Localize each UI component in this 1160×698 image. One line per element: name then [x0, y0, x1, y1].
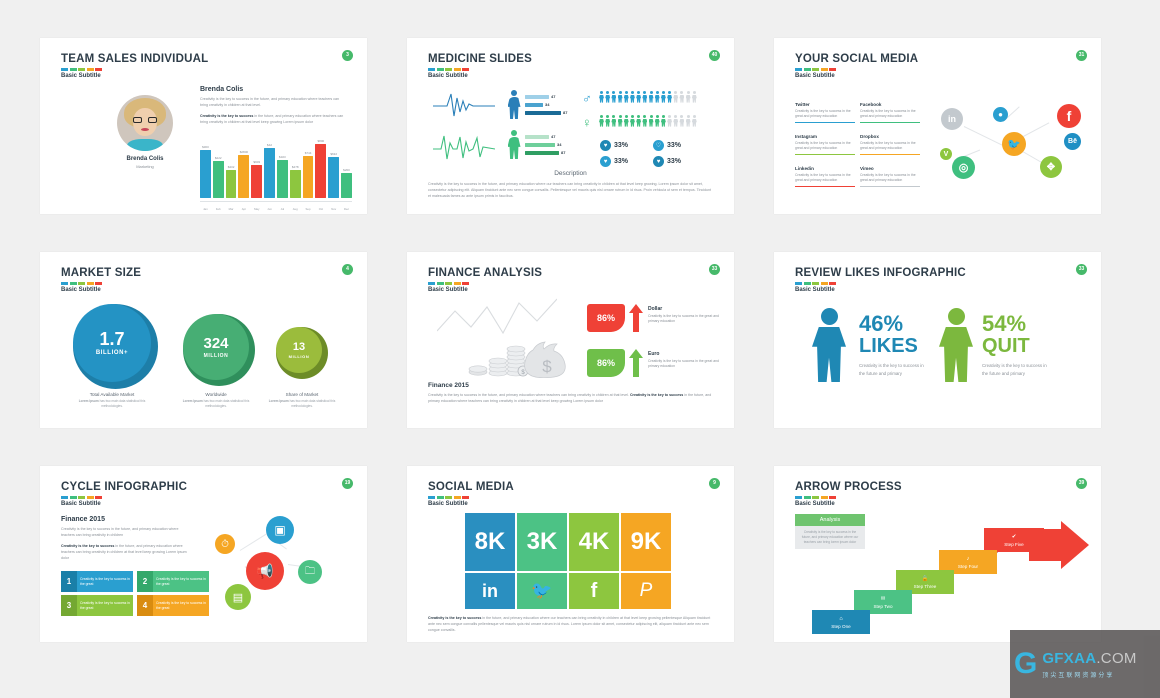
bar: [238, 155, 249, 198]
social-item-text: Creativity is the key to success in the …: [795, 109, 855, 120]
market-circle-worldwide: 324 MILLION: [183, 314, 249, 380]
slide-cycle-infographic[interactable]: CYCLE INFOGRAPHIC Basic Subtitle 19 Fina…: [40, 466, 367, 642]
pictogram-figure: [618, 91, 623, 102]
pictogram-figure: [673, 91, 678, 102]
social-item-label: Linkedin: [795, 166, 855, 171]
slide-number-badge: 39: [1076, 478, 1087, 489]
page-title: MARKET SIZE: [61, 267, 141, 279]
heart-icon: ♡: [653, 140, 664, 151]
market-circle-total: 1.7 BILLION+: [73, 304, 151, 382]
money-bag-icon: $ $: [467, 330, 567, 378]
month-label: Jun: [264, 207, 275, 211]
social-item-label: Facebook: [860, 102, 920, 107]
month-label: Feb: [213, 207, 224, 211]
step-label: Step Three: [914, 584, 937, 589]
slide-number-badge: 19: [342, 478, 353, 489]
page-subtitle: Basic Subtitle: [61, 287, 101, 293]
bar-value-label: $800: [318, 139, 325, 143]
linkedin-icon[interactable]: in: [941, 108, 963, 130]
male-gender-icon: ♂: [582, 92, 592, 105]
step-label: Step Five: [1004, 542, 1023, 547]
social-item-text: Creativity is the key to success in the …: [795, 141, 855, 152]
pictogram-figure: [636, 115, 641, 126]
bar-column: $800: [315, 139, 326, 198]
female-bar-3: [525, 151, 559, 155]
likes-word: LIKES: [859, 337, 918, 356]
heart-stat-4: ♥ 33%: [653, 156, 681, 167]
footer-a: Creativity is the key to success in the …: [428, 393, 630, 397]
month-label: Oct: [315, 207, 326, 211]
slide-number-badge: 33: [709, 264, 720, 275]
step-label: Step Four: [958, 564, 978, 569]
accent-bar: [61, 282, 102, 285]
arrow-up-icon: [629, 349, 643, 377]
paragraph-two-bold: Creativity is the key to success: [200, 114, 253, 118]
underline: [795, 122, 855, 124]
pictogram-figure: [667, 91, 672, 102]
home-icon: ⌂: [839, 616, 842, 622]
pictogram-figure: [679, 91, 684, 102]
footer-text: Creativity is the key to success in the …: [428, 616, 713, 634]
pictogram-figure: [692, 91, 697, 102]
dollar-value: 86%: [597, 313, 615, 323]
heart-icon: ♥: [600, 140, 611, 151]
bar-value-label: $903: [253, 160, 260, 164]
description-heading: Description: [407, 170, 734, 177]
pictogram-figure: [605, 91, 610, 102]
slide-number-badge: 33: [1076, 264, 1087, 275]
accent-bar: [428, 496, 469, 499]
accent-bar: [795, 68, 836, 71]
accent-bar: [795, 282, 836, 285]
heart-stat-2: ♡ 33%: [653, 140, 681, 151]
accent-bar: [61, 496, 102, 499]
market-unit: BILLION+: [96, 350, 128, 356]
social-item-label: Twitter: [795, 102, 855, 107]
pictogram-figure: [624, 91, 629, 102]
female-bar-1: [525, 135, 549, 139]
caption-rest: has two main data statistical this metho…: [289, 399, 336, 408]
heart-stat-3: ♥ 33%: [600, 156, 628, 167]
female-pictogram-row: [599, 115, 697, 126]
pictogram-figure: [642, 91, 647, 102]
social-item-facebook[interactable]: Facebook Creativity is the key to succes…: [860, 102, 920, 123]
bar-column: $323: [277, 155, 288, 198]
bar-column: $300: [200, 145, 211, 198]
caption-text: Lorem Ipsum has two main data statistica…: [260, 399, 344, 409]
social-item-text: Creativity is the key to success in the …: [795, 173, 855, 184]
footer-bold: Creativity is the key to success: [428, 616, 481, 620]
pictogram-figure: [599, 91, 604, 102]
heart-value: 33%: [667, 142, 681, 149]
check-icon: ✔: [1012, 534, 1017, 540]
watermark-tld: .COM: [1096, 650, 1136, 667]
pictogram-figure: [673, 115, 678, 126]
heart-icon: ♥: [653, 156, 664, 167]
pictogram-figure: [661, 91, 666, 102]
box-text: Creativity is the key to success in the …: [77, 571, 133, 592]
body-heading: Finance 2015: [61, 516, 105, 523]
month-label: Aug: [290, 207, 301, 211]
pictogram-figure: [611, 91, 616, 102]
folder-icon[interactable]: 🗀: [298, 560, 322, 584]
slide-grid: TEAM SALES INDIVIDUAL Basic Subtitle 3 B…: [0, 0, 1160, 680]
euro-value: 86%: [597, 358, 615, 368]
social-item-vimeo[interactable]: Vimeo Creativity is the key to success i…: [860, 166, 920, 187]
market-unit: MILLION: [289, 354, 310, 359]
euro-text: Creativity is the key to success in the …: [648, 359, 722, 370]
pictogram-figure: [649, 91, 654, 102]
slide-number-badge: 3: [342, 50, 353, 61]
heart-value: 33%: [667, 158, 681, 165]
bar: [315, 144, 326, 198]
paragraph-one: Creativity is the key to success in the …: [200, 97, 348, 109]
social-item-label: Vimeo: [860, 166, 920, 171]
bar-value-label: $478: [292, 165, 299, 169]
pictogram-figure: [605, 115, 610, 126]
box-text: Creativity is the key to success in the …: [153, 571, 209, 592]
twitter-icon[interactable]: 🐦: [1002, 132, 1026, 156]
bar: [251, 165, 262, 198]
social-item-dropbox[interactable]: Dropbox Creativity is the key to success…: [860, 134, 920, 155]
cycle-box-1[interactable]: 1 Creativity is the key to success in th…: [61, 571, 133, 592]
pictogram-figure: [599, 115, 604, 126]
watermark: G GFXAA.COM 顶尖互联网资源分享: [1010, 630, 1160, 698]
step-label: Step Two: [873, 604, 892, 609]
heart-value: 33%: [614, 158, 628, 165]
page-title: CYCLE INFOGRAPHIC: [61, 481, 187, 493]
pictogram-figure: [649, 115, 654, 126]
market-value: 13: [293, 342, 305, 353]
bar-value-label: $2800: [240, 150, 248, 154]
ekg-female-icon: [433, 133, 495, 161]
underline: [860, 154, 920, 156]
box-number: 2: [137, 571, 153, 592]
accent-bar: [428, 282, 469, 285]
social-item-linkedin[interactable]: Linkedin Creativity is the key to succes…: [795, 166, 855, 187]
facebook-icon[interactable]: f: [569, 573, 619, 609]
market-value: 324: [203, 336, 228, 351]
avatar: [117, 95, 173, 151]
page-title: FINANCE ANALYSIS: [428, 267, 542, 279]
bar-column: $432: [226, 165, 237, 198]
pictogram-figure: [686, 91, 691, 102]
page-subtitle: Basic Subtitle: [428, 287, 468, 293]
facebook-icon[interactable]: f: [1057, 104, 1081, 128]
slide-review-likes-infographic[interactable]: REVIEW LIKES INFOGRAPHIC Basic Subtitle …: [774, 252, 1101, 428]
page-title: YOUR SOCIAL MEDIA: [795, 53, 918, 65]
music-icon: ♪: [967, 556, 970, 562]
accent-bar: [795, 496, 836, 499]
pictogram-figure: [655, 115, 660, 126]
pictogram-figure: [630, 115, 635, 126]
pictogram-figure: [692, 115, 697, 126]
vimeo-icon[interactable]: V: [940, 148, 952, 160]
briefcase-icon[interactable]: ▣: [266, 516, 294, 544]
chart-axis: [200, 201, 352, 202]
heart-icon: ♥: [600, 156, 611, 167]
caption-bold: Lorem Ipsum: [183, 399, 203, 403]
slide-team-sales-individual[interactable]: TEAM SALES INDIVIDUAL Basic Subtitle 3 B…: [40, 38, 367, 214]
month-label: May: [251, 207, 262, 211]
ekg-male-icon: [433, 90, 495, 118]
stat-tile-facebook[interactable]: 4K: [569, 513, 619, 571]
caption-rest: has two main data statistical this metho…: [203, 399, 250, 408]
bar: [290, 170, 301, 198]
social-item-instagram[interactable]: Instagram Creativity is the key to succe…: [795, 134, 855, 155]
pictogram-figure: [661, 115, 666, 126]
bar-column: $2800: [238, 150, 249, 198]
page-subtitle: Basic Subtitle: [795, 73, 835, 79]
pinterest-icon[interactable]: P: [621, 573, 671, 609]
female-bar-2: [525, 143, 555, 147]
bar-column: $903: [251, 160, 262, 198]
page-subtitle: Basic Subtitle: [795, 501, 835, 507]
box-number: 1: [61, 571, 77, 592]
month-label: Mar: [226, 207, 237, 211]
slide-social-media[interactable]: SOCIAL MEDIA Basic Subtitle 9 8K 3K 4K 9…: [407, 466, 734, 642]
market-caption-share: Share of Market Lorem Ipsum has two main…: [260, 392, 344, 409]
pictogram-figure: [630, 91, 635, 102]
lock-icon: 🔒: [922, 576, 929, 582]
male-bar-1: [525, 95, 549, 99]
behance-icon[interactable]: Bē: [1064, 133, 1081, 150]
male-value-1: 47: [551, 94, 555, 99]
bar: [264, 148, 275, 198]
bar: [226, 170, 237, 198]
bar-value-label: $42: [267, 143, 272, 147]
person-name: Brenda Colis: [100, 156, 190, 162]
arrow-up-icon: [629, 304, 643, 332]
euro-label: Euro: [648, 351, 659, 357]
alarm-clock-icon[interactable]: ⏱: [215, 534, 235, 554]
accent-bar: [428, 68, 469, 71]
market-value: 1.7: [99, 330, 124, 348]
female-value-3: 87: [561, 150, 565, 155]
paragraph-two-bold: Creativity is the key to success: [61, 544, 114, 548]
bar-column: $42: [264, 143, 275, 198]
person-role: Marketing: [100, 164, 190, 169]
female-gender-icon: ♀: [582, 116, 592, 129]
quit-text: Creativity is the key to success in the …: [982, 362, 1052, 377]
male-figure-icon: [507, 90, 521, 119]
megaphone-icon[interactable]: 📢: [246, 552, 284, 590]
bar-value-label: $632: [330, 152, 337, 156]
slide-market-size[interactable]: MARKET SIZE Basic Subtitle 4 1.7 BILLION…: [40, 252, 367, 428]
caption-rest: has two main data statistical this metho…: [99, 399, 146, 408]
pictogram-figure: [642, 115, 647, 126]
underline: [860, 122, 920, 124]
bar: [213, 161, 224, 198]
bar-value-label: $222: [215, 156, 222, 160]
instagram-icon[interactable]: ◎: [952, 156, 975, 179]
page-subtitle: Basic Subtitle: [61, 501, 101, 507]
caption-bold: Lorem Ipsum: [269, 399, 289, 403]
caption-title: Total Available Market: [70, 392, 154, 397]
bar-value-label: $300: [202, 145, 209, 149]
pictogram-figure: [686, 115, 691, 126]
accent-bar: [61, 68, 102, 71]
female-figure-icon: [507, 130, 521, 159]
box-text: Creativity is the key to success in the …: [153, 595, 209, 616]
pictogram-figure: [611, 115, 616, 126]
footer-bold: Creativity is the key to success: [630, 393, 683, 397]
dollar-text: Creativity is the key to success in the …: [648, 314, 722, 325]
page-title: ARROW PROCESS: [795, 481, 902, 493]
social-item-twitter[interactable]: Twitter Creativity is the key to success…: [795, 102, 855, 123]
bar: [200, 150, 211, 198]
bar: [328, 157, 339, 198]
svg-text:$: $: [542, 357, 552, 376]
male-value-3: 87: [563, 110, 567, 115]
cycle-box-3[interactable]: 3 Creativity is the key to success in th…: [61, 595, 133, 616]
caption-title: Share of Market: [260, 392, 344, 397]
month-label: Jan: [200, 207, 211, 211]
social-item-text: Creativity is the key to success in the …: [860, 141, 920, 152]
page-title: SOCIAL MEDIA: [428, 481, 514, 493]
page-title: MEDICINE SLIDES: [428, 53, 532, 65]
layers-icon[interactable]: ▤: [225, 584, 251, 610]
footer-text: Creativity is the key to success in the …: [428, 393, 713, 405]
slide-finance-analysis[interactable]: FINANCE ANALYSIS Basic Subtitle 33 $: [407, 252, 734, 428]
twitter-icon[interactable]: 🐦: [517, 573, 567, 609]
cycle-box-4[interactable]: 4 Creativity is the key to success in th…: [137, 595, 209, 616]
paragraph-one: Creativity is the key to success in the …: [61, 527, 193, 539]
paragraph-two: Creativity is the key to success in the …: [200, 114, 348, 126]
paragraph-two: Creativity is the key to success in the …: [61, 544, 193, 562]
footer-heading: Finance 2015: [428, 382, 469, 389]
quit-word: QUIT: [982, 337, 1030, 356]
month-label: Nov: [328, 207, 339, 211]
bar-column: $744: [303, 151, 314, 198]
stat-tile-twitter[interactable]: 3K: [517, 513, 567, 571]
linkedin-icon[interactable]: in: [465, 573, 515, 609]
male-pictogram-row: [599, 91, 697, 102]
bar-value-label: $200: [343, 168, 350, 172]
watermark-brand: GFXAA: [1042, 650, 1096, 667]
slide-number-badge: 4: [342, 264, 353, 275]
underline: [860, 186, 920, 188]
page-subtitle: Basic Subtitle: [428, 501, 468, 507]
slide-number-badge: 9: [709, 478, 720, 489]
caption-title: Worldwide: [174, 392, 258, 397]
analysis-callout: Analysis Creativity is the key to succes…: [795, 514, 865, 549]
bar: [341, 173, 352, 198]
month-label: Sep: [303, 207, 314, 211]
caption-text: Lorem Ipsum has two main data statistica…: [70, 399, 154, 409]
envelope-icon: ✉: [881, 596, 886, 602]
dribbble-icon[interactable]: ●: [993, 107, 1008, 122]
slide-arrow-process[interactable]: ARROW PROCESS Basic Subtitle 39 Analysis…: [774, 466, 1101, 642]
social-item-text: Creativity is the key to success in the …: [860, 109, 920, 120]
page-title: TEAM SALES INDIVIDUAL: [61, 53, 208, 65]
dropbox-icon[interactable]: ✥: [1040, 156, 1062, 178]
quit-percent: 54%: [982, 314, 1026, 335]
stat-tile-linkedin[interactable]: 8K: [465, 513, 515, 571]
caption-bold: Lorem Ipsum: [79, 399, 99, 403]
person-icon-quit: [939, 308, 973, 382]
bar-value-label: $744: [305, 151, 312, 155]
bar-column: $478: [290, 165, 301, 198]
bar-column: $632: [328, 152, 339, 198]
box-number: 3: [61, 595, 77, 616]
bar-column: $222: [213, 156, 224, 198]
month-label: Jul: [277, 207, 288, 211]
social-item-label: Dropbox: [860, 134, 920, 139]
underline: [795, 154, 855, 156]
bar: [277, 160, 288, 198]
market-caption-total: Total Available Market Lorem Ipsum has t…: [70, 392, 154, 409]
dollar-badge: 86%: [587, 304, 625, 332]
box-number: 4: [137, 595, 153, 616]
page-subtitle: Basic Subtitle: [61, 73, 101, 79]
page-subtitle: Basic Subtitle: [795, 287, 835, 293]
likes-percent: 46%: [859, 314, 903, 335]
market-caption-worldwide: Worldwide Lorem Ipsum has two main data …: [174, 392, 258, 409]
heart-value: 33%: [614, 142, 628, 149]
month-label: Apr: [238, 207, 249, 211]
slide-number-badge: 31: [1076, 50, 1087, 61]
dollar-label: Dollar: [648, 306, 662, 312]
pictogram-figure: [618, 115, 623, 126]
underline: [795, 186, 855, 188]
glasses-icon: [133, 117, 157, 123]
cycle-box-2[interactable]: 2 Creativity is the key to success in th…: [137, 571, 209, 592]
market-circle-share: 13 MILLION: [276, 327, 322, 373]
bar-column: $200: [341, 168, 352, 198]
bar-value-label: $432: [228, 165, 235, 169]
step-one[interactable]: ⌂ Step One: [812, 610, 870, 634]
euro-badge: 86%: [587, 349, 625, 377]
male-value-2: 34: [545, 102, 549, 107]
watermark-logo: G: [1014, 649, 1037, 679]
pictogram-figure: [636, 91, 641, 102]
bar-value-label: $323: [279, 155, 286, 159]
slide-your-social-media[interactable]: YOUR SOCIAL MEDIA Basic Subtitle 31 Twit…: [774, 38, 1101, 214]
page-subtitle: Basic Subtitle: [428, 73, 468, 79]
slide-medicine-slides[interactable]: MEDICINE SLIDES Basic Subtitle 40 47 34 …: [407, 38, 734, 214]
chart-x-labels: JanFebMarAprMayJunJulAugSepOctNovDec: [200, 207, 352, 211]
social-item-label: Instagram: [795, 134, 855, 139]
caption-text: Lorem Ipsum has two main data statistica…: [174, 399, 258, 409]
bar-chart: $300$222$432$2800$903$42$323$478$744$800…: [200, 136, 352, 198]
female-value-2: 34: [557, 142, 561, 147]
person-icon-likes: [812, 308, 846, 382]
market-unit: MILLION: [204, 353, 229, 359]
step-five[interactable]: ✔ Step Five: [984, 528, 1044, 552]
page-title: REVIEW LIKES INFOGRAPHIC: [795, 267, 966, 279]
male-bar-2: [525, 103, 543, 107]
pictogram-figure: [679, 115, 684, 126]
female-value-1: 47: [551, 134, 555, 139]
stat-tile-pinterest[interactable]: 9K: [621, 513, 671, 571]
likes-text: Creativity is the key to success in the …: [859, 362, 929, 377]
box-text: Creativity is the key to success in the …: [77, 595, 133, 616]
pictogram-figure: [624, 115, 629, 126]
bar: [303, 156, 314, 198]
pictogram-figure: [655, 91, 660, 102]
heart-stat-1: ♥ 33%: [600, 140, 628, 151]
description-text: Creativity is the key to success in the …: [428, 182, 713, 200]
analysis-text: Creativity is the key to success in the …: [795, 526, 865, 549]
network-edge: [964, 126, 1008, 148]
male-bar-3: [525, 111, 561, 115]
step-label: Step One: [831, 624, 850, 629]
analysis-heading: Analysis: [795, 514, 865, 526]
cycle-edge: [240, 532, 269, 551]
pictogram-figure: [667, 115, 672, 126]
watermark-cn: 顶尖互联网资源分享: [1042, 670, 1136, 679]
